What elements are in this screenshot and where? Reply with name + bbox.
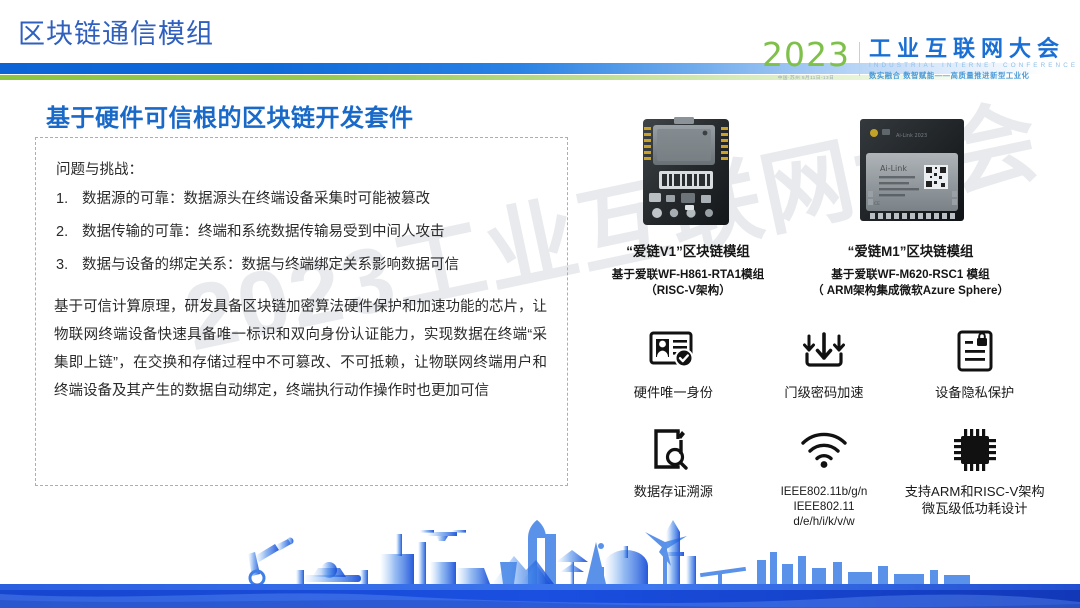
download-accelerate-icon [801, 325, 847, 377]
list-item: 2. 数据传输的可靠：终端和系统数据传输易受到中间人攻击 [56, 222, 547, 244]
module-card-v1: “爱链V1”区块链模组 基于爱联WF-H861-RTA1模组 （RISC-V架构… [588, 113, 788, 300]
content-box: 问题与挑战： 1. 数据源的可靠：数据源头在终端设备采集时可能被篡改 2. 数据… [35, 137, 568, 486]
logo-divider [859, 42, 860, 76]
challenges-list: 1. 数据源的可靠：数据源头在终端设备采集时可能被篡改 2. 数据传输的可靠：终… [56, 189, 547, 276]
section-heading: 基于硬件可信根的区块链开发套件 [46, 98, 414, 133]
module-subtitle: 基于爱联WF-M620-RSC1 模组 （ ARM架构集成微软Azure Sph… [798, 267, 1023, 300]
module-title: “爱链V1”区块链模组 [588, 240, 788, 260]
list-item-number: 3. [56, 255, 82, 277]
feature-privacy-protection: 设备隐私保护 [899, 325, 1050, 402]
feature-label: 硬件唯一身份 [634, 385, 713, 402]
cpu-chip-icon [952, 424, 998, 476]
list-item-text: 数据与设备的绑定关系：数据与终端绑定关系影响数据可信 [82, 255, 459, 277]
module-title: “爱链M1”区块链模组 [798, 240, 1023, 260]
solution-paragraph: 基于可信计算原理，研发具备区块链加密算法硬件保护和加速功能的芯片，让物联网终端设… [54, 294, 547, 405]
logo-name-block: 工业互联网大会 INDUSTRIAL INTERNET CONFERENCE 数… [869, 37, 1078, 81]
feature-grid: 硬件唯一身份 门级密码加速 [598, 325, 1050, 529]
list-item-number: 2. [56, 222, 82, 244]
feature-label: 门级密码加速 [784, 385, 863, 402]
feature-label: 设备隐私保护 [935, 385, 1014, 402]
svg-text:Ai-Link: Ai-Link [880, 164, 907, 173]
footer-skyline [0, 512, 1080, 608]
list-item-text: 数据源的可靠：数据源头在终端设备采集时可能被篡改 [82, 189, 430, 211]
logo-year-block: 2023 中国·苏州 5月11日-13日 [762, 38, 850, 81]
challenges-lead: 问题与挑战： [56, 158, 547, 179]
skyline-graphic [0, 512, 1080, 608]
logo-slogan: 数实融合 数智赋能——高质量推进新型工业化 [869, 71, 1078, 81]
list-item: 1. 数据源的可靠：数据源头在终端设备采集时可能被篡改 [56, 189, 547, 211]
logo-name-cn: 工业互联网大会 [869, 37, 1078, 60]
ailian-m1-module-photo: Ai-Link Ai-Link 2023 [844, 113, 978, 231]
list-item-text: 数据传输的可靠：终端和系统数据传输易受到中间人攻击 [82, 222, 445, 244]
feature-label: 数据存证溯源 [634, 484, 713, 501]
module-subtitle: 基于爱联WF-H861-RTA1模组 （RISC-V架构） [588, 267, 788, 300]
id-card-verified-icon [649, 325, 697, 377]
svg-text:Ai-Link 2023: Ai-Link 2023 [896, 133, 927, 139]
list-item: 3. 数据与设备的绑定关系：数据与终端绑定关系影响数据可信 [56, 255, 547, 277]
feature-crypto-acceleration: 门级密码加速 [749, 325, 900, 402]
slide-canvas: 区块链通信模组 2023 中国·苏州 5月11日-13日 工业互联网大会 IND… [0, 0, 1080, 608]
logo-name-en: INDUSTRIAL INTERNET CONFERENCE [869, 62, 1078, 69]
list-item-number: 1. [56, 189, 82, 211]
page-title: 区块链通信模组 [18, 12, 214, 51]
feature-hardware-identity: 硬件唯一身份 [598, 325, 749, 402]
document-search-icon [652, 424, 694, 476]
module-card-m1: Ai-Link Ai-Link 2023 [798, 113, 1023, 300]
ailian-v1-board-photo [629, 113, 747, 231]
conference-logo: 2023 中国·苏州 5月11日-13日 工业互联网大会 INDUSTRIAL … [762, 36, 1078, 82]
svg-text:CE: CE [874, 201, 880, 207]
document-lock-icon [956, 325, 994, 377]
wifi-icon [799, 424, 849, 476]
logo-year-subtitle: 中国·苏州 5月11日-13日 [778, 75, 834, 81]
logo-year: 2023 [762, 38, 850, 71]
